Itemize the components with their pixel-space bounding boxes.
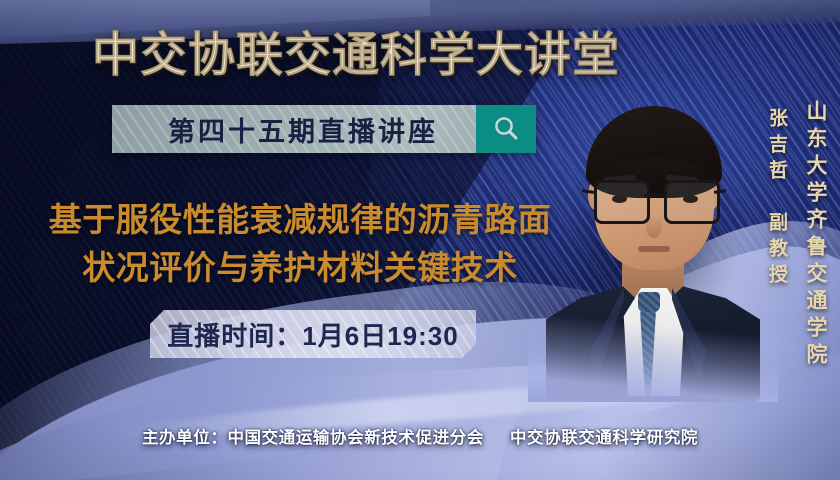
glasses-lens-left [594, 180, 650, 224]
page-title: 中交协联交通科学大讲堂 [0, 16, 840, 85]
organizer-footer: 主办单位：中国交通运输协会新技术促进分会中交协联交通科学研究院 [0, 424, 840, 448]
headline-line-1: 基于服役性能衰减规律的沥青路面 [49, 201, 552, 238]
headline-line-2: 状况评价与养护材料关键技术 [0, 244, 600, 292]
speaker-name-title: 张吉哲 副教授 [763, 108, 790, 290]
glasses-icon [592, 180, 716, 220]
search-icon[interactable] [476, 105, 536, 153]
footer-organizer-1: 中国交通运输协会新技术促进分会 [227, 429, 484, 447]
broadcast-time-box: 直播时间：1月6日19:30 [150, 310, 476, 358]
portrait-tie-knot [638, 292, 660, 312]
footer-organizer-2: 中交协联交通科学研究院 [510, 429, 698, 447]
episode-bar: 第四十五期直播讲座 [112, 105, 536, 153]
portrait-eye-left [612, 195, 627, 203]
speaker-affiliation: 山东大学齐鲁交通学院 [800, 100, 830, 370]
broadcast-time-label: 直播时间：1月6日19:30 [167, 316, 458, 353]
footer-prefix: 主办单位： [142, 429, 228, 447]
episode-label: 第四十五期直播讲座 [112, 105, 476, 153]
portrait-eye-right [683, 195, 698, 203]
glasses-lens-right [664, 180, 720, 224]
speaker-info: 张吉哲 副教授 山东大学齐鲁交通学院 [763, 100, 830, 370]
promo-banner: 中交协联交通科学大讲堂 第四十五期直播讲座 基于服役性能衰减规律的沥青路面 状况… [0, 0, 840, 480]
glasses-bridge [644, 194, 664, 197]
portrait-mouth [638, 246, 670, 252]
lecture-headline: 基于服役性能衰减规律的沥青路面 状况评价与养护材料关键技术 [0, 196, 600, 292]
